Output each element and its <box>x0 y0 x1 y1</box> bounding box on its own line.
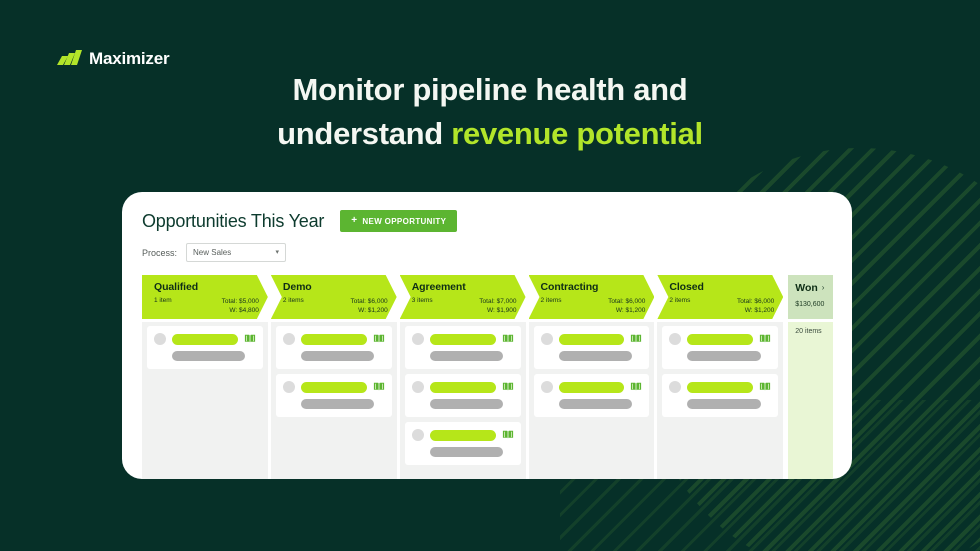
stage-amounts: Total: $7,000W: $1,900 <box>479 297 516 317</box>
stage-total: Total: $6,000 <box>608 298 645 305</box>
stage-amounts: Total: $6,000W: $1,200 <box>608 297 645 317</box>
opportunity-title-placeholder <box>687 382 753 393</box>
avatar <box>283 381 295 393</box>
pipeline-board: Qualified1 itemTotal: $5,000W: $4,800Dem… <box>142 275 836 479</box>
stage-name: Qualified <box>154 282 259 294</box>
stage-card-list <box>657 322 783 479</box>
stage-header[interactable]: Contracting2 itemsTotal: $6,000W: $1,200 <box>529 275 655 319</box>
stage-item-count: 2 items <box>669 297 690 317</box>
opportunity-title-placeholder <box>559 382 625 393</box>
opportunity-card-top-row <box>283 333 385 345</box>
won-amount: $130,600 <box>795 301 826 308</box>
opportunity-subtitle-placeholder <box>559 351 632 361</box>
avatar <box>412 429 424 441</box>
stage-name: Demo <box>283 282 388 294</box>
process-select-value: New Sales <box>193 248 231 257</box>
process-label: Process: <box>142 248 177 258</box>
stage-card-list <box>271 322 397 479</box>
headline-line-2-plain: understand <box>277 116 451 151</box>
opportunity-title-placeholder <box>301 334 367 345</box>
book-icon <box>502 381 514 393</box>
book-icon <box>759 333 771 345</box>
stage-amounts: Total: $6,000W: $1,200 <box>350 297 387 317</box>
won-title: Won <box>795 282 818 294</box>
opportunity-subtitle-placeholder <box>172 351 245 361</box>
new-opportunity-button[interactable]: + NEW OPPORTUNITY <box>340 210 457 232</box>
opportunity-subtitle-placeholder <box>430 447 503 457</box>
ascending-bars-icon <box>57 50 83 67</box>
stage-item-count: 3 items <box>412 297 433 317</box>
opportunity-title-placeholder <box>559 334 625 345</box>
avatar <box>283 333 295 345</box>
headline-line-1: Monitor pipeline health and <box>0 68 980 112</box>
book-icon <box>759 381 771 393</box>
book-icon <box>502 333 514 345</box>
stage-header[interactable]: Demo2 itemsTotal: $6,000W: $1,200 <box>271 275 397 319</box>
page-title: Opportunities This Year <box>142 211 324 232</box>
stage-name: Closed <box>669 282 774 294</box>
stage-meta: 2 itemsTotal: $6,000W: $1,200 <box>283 297 388 317</box>
opportunity-title-placeholder <box>430 334 496 345</box>
pipeline-stage-column: Demo2 itemsTotal: $6,000W: $1,200 <box>271 275 397 479</box>
opportunity-card-top-row <box>283 381 385 393</box>
stage-total: Total: $6,000 <box>350 298 387 305</box>
opportunity-title-placeholder <box>430 430 496 441</box>
page-headline: Monitor pipeline health and understand r… <box>0 68 980 156</box>
avatar <box>154 333 166 345</box>
opportunity-subtitle-placeholder <box>430 351 503 361</box>
opportunity-card-top-row <box>669 381 771 393</box>
stage-total: Total: $5,000 <box>222 298 259 305</box>
avatar <box>669 333 681 345</box>
stage-name: Contracting <box>541 282 646 294</box>
stage-meta: 3 itemsTotal: $7,000W: $1,900 <box>412 297 517 317</box>
opportunity-subtitle-placeholder <box>687 351 760 361</box>
stage-header[interactable]: Closed2 itemsTotal: $6,000W: $1,200 <box>657 275 783 319</box>
opportunity-card[interactable] <box>276 326 392 369</box>
won-item-count: 20 items <box>795 328 826 335</box>
stage-total: Total: $7,000 <box>479 298 516 305</box>
opportunity-card-top-row <box>412 333 514 345</box>
opportunity-title-placeholder <box>430 382 496 393</box>
won-header[interactable]: Won›$130,600 <box>788 275 833 319</box>
opportunity-card[interactable] <box>405 326 521 369</box>
stage-item-count: 2 items <box>283 297 304 317</box>
opportunity-title-placeholder <box>301 382 367 393</box>
stage-amounts: Total: $5,000W: $4,800 <box>222 297 259 317</box>
stage-header[interactable]: Agreement3 itemsTotal: $7,000W: $1,900 <box>400 275 526 319</box>
opportunity-card[interactable] <box>534 374 650 417</box>
stage-meta: 2 itemsTotal: $6,000W: $1,200 <box>541 297 646 317</box>
book-icon <box>630 381 642 393</box>
avatar <box>412 333 424 345</box>
stage-header[interactable]: Qualified1 itemTotal: $5,000W: $4,800 <box>142 275 268 319</box>
pipeline-stage-column: Contracting2 itemsTotal: $6,000W: $1,200 <box>529 275 655 479</box>
opportunity-title-placeholder <box>687 334 753 345</box>
headline-accent: revenue potential <box>451 116 703 151</box>
stage-weighted: W: $1,200 <box>616 307 646 314</box>
book-icon <box>630 333 642 345</box>
chevron-right-icon: › <box>822 284 825 292</box>
book-icon <box>373 333 385 345</box>
opportunity-card[interactable] <box>405 374 521 417</box>
stage-weighted: W: $1,200 <box>358 307 388 314</box>
opportunity-subtitle-placeholder <box>559 399 632 409</box>
stage-item-count: 2 items <box>541 297 562 317</box>
brand-logo: Maximizer <box>57 50 169 67</box>
process-select[interactable]: New Sales ▾ <box>186 243 286 262</box>
opportunity-subtitle-placeholder <box>687 399 760 409</box>
app-window: Opportunities This Year + NEW OPPORTUNIT… <box>122 192 852 479</box>
pipeline-stage-column: Closed2 itemsTotal: $6,000W: $1,200 <box>657 275 783 479</box>
app-header: Opportunities This Year + NEW OPPORTUNIT… <box>122 192 852 262</box>
stage-name: Agreement <box>412 282 517 294</box>
avatar <box>541 333 553 345</box>
stage-meta: 2 itemsTotal: $6,000W: $1,200 <box>669 297 774 317</box>
headline-line-2: understand revenue potential <box>0 112 980 156</box>
book-icon <box>244 333 256 345</box>
opportunity-card-top-row <box>669 333 771 345</box>
plus-icon: + <box>351 216 357 226</box>
book-icon <box>373 381 385 393</box>
opportunity-card[interactable] <box>662 374 778 417</box>
opportunity-card-top-row <box>541 333 643 345</box>
process-filter-row: Process: New Sales ▾ <box>142 243 832 262</box>
chevron-down-icon: ▾ <box>276 249 280 256</box>
stage-total: Total: $6,000 <box>737 298 774 305</box>
opportunity-card[interactable] <box>534 326 650 369</box>
stage-card-list <box>142 322 268 479</box>
opportunity-card-top-row <box>412 429 514 441</box>
stage-item-count: 1 item <box>154 297 172 317</box>
opportunity-card[interactable] <box>405 422 521 465</box>
stage-weighted: W: $1,200 <box>745 307 775 314</box>
avatar <box>541 381 553 393</box>
avatar <box>669 381 681 393</box>
stage-card-list <box>400 322 526 479</box>
stage-amounts: Total: $6,000W: $1,200 <box>737 297 774 317</box>
avatar <box>412 381 424 393</box>
stage-card-list <box>529 322 655 479</box>
stage-weighted: W: $4,800 <box>229 307 259 314</box>
opportunity-card[interactable] <box>276 374 392 417</box>
opportunity-card-top-row <box>541 381 643 393</box>
opportunity-subtitle-placeholder <box>301 351 374 361</box>
won-title-row: Won› <box>795 282 826 294</box>
brand-name: Maximizer <box>89 50 169 67</box>
opportunity-subtitle-placeholder <box>430 399 503 409</box>
opportunity-subtitle-placeholder <box>301 399 374 409</box>
pipeline-stage-column: Agreement3 itemsTotal: $7,000W: $1,900 <box>400 275 526 479</box>
opportunity-card[interactable] <box>662 326 778 369</box>
book-icon <box>502 429 514 441</box>
opportunity-title-placeholder <box>172 334 238 345</box>
opportunity-card[interactable] <box>147 326 263 369</box>
stage-weighted: W: $1,900 <box>487 307 517 314</box>
stage-meta: 1 itemTotal: $5,000W: $4,800 <box>154 297 259 317</box>
new-opportunity-label: NEW OPPORTUNITY <box>362 217 446 226</box>
opportunity-card-top-row <box>412 381 514 393</box>
won-column[interactable]: Won›$130,60020 items <box>788 275 833 479</box>
opportunity-card-top-row <box>154 333 256 345</box>
title-row: Opportunities This Year + NEW OPPORTUNIT… <box>142 210 832 232</box>
won-body: 20 items <box>788 322 833 479</box>
pipeline-stage-column: Qualified1 itemTotal: $5,000W: $4,800 <box>142 275 268 479</box>
